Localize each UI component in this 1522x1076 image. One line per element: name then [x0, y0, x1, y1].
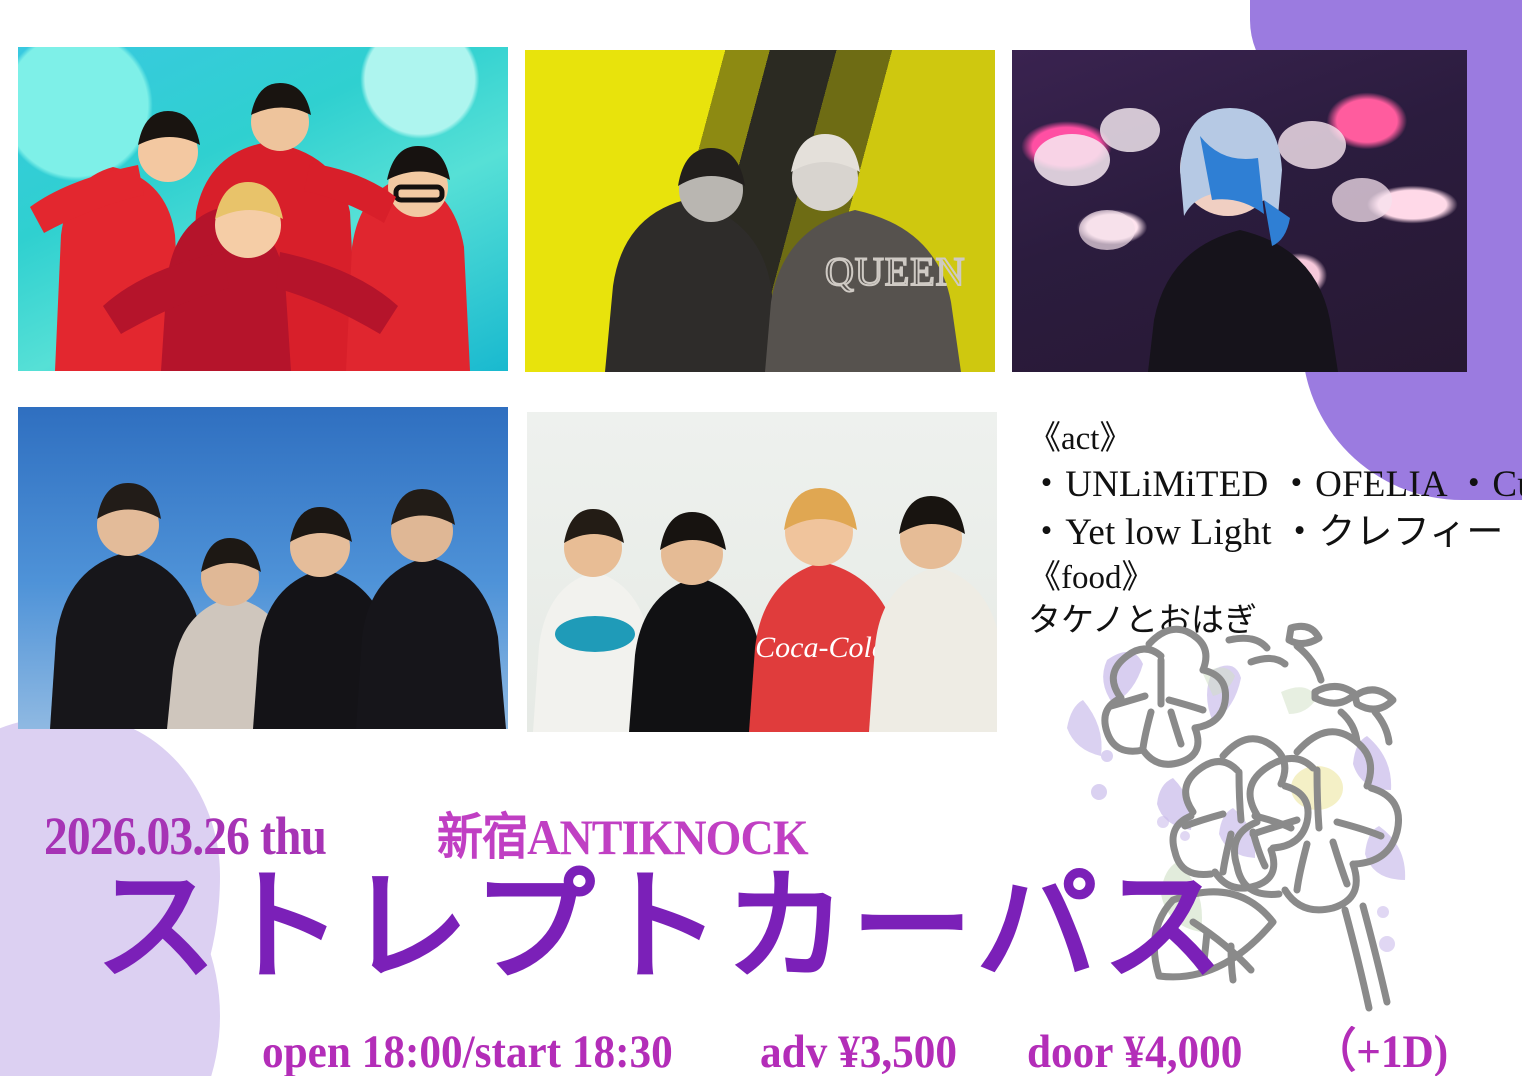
- svg-text:QUEEN: QUEEN: [825, 249, 966, 294]
- drink-note: （+1D): [1313, 1012, 1448, 1076]
- act-line-2: ・Yet low Light ・クレフィー: [1028, 509, 1508, 557]
- photo-band-4: [18, 407, 508, 729]
- photo-band-5: Coca-Cola: [527, 412, 997, 732]
- event-title: ストレプトカーパス: [95, 866, 1228, 988]
- photo-band-3-figure: [1012, 50, 1467, 372]
- photo-band-1-figures: [18, 47, 508, 371]
- act-line-1: ・UNLiMiTED ・OFELIA ・Cuon: [1028, 461, 1508, 509]
- photo-band-4-figures: [18, 407, 508, 729]
- door-price: door ¥4,000: [1027, 1025, 1242, 1076]
- photo-band-5-figures: Coca-Cola: [527, 412, 997, 732]
- photo-band-2-figures: QUEEN: [525, 50, 995, 372]
- ticket-info-line: open 18:00/start 18:30 adv ¥3,500 door ¥…: [262, 1012, 1460, 1076]
- adv-price: adv ¥3,500: [760, 1025, 957, 1076]
- event-times: open 18:00/start 18:30: [262, 1025, 673, 1076]
- lineup-list: 《act》 ・UNLiMiTED ・OFELIA ・Cuon ・Yet low …: [1028, 418, 1508, 643]
- photo-band-3: [1012, 50, 1467, 372]
- food-vendor: タケノとおはぎ: [1028, 600, 1508, 643]
- svg-text:Coca-Cola: Coca-Cola: [755, 631, 887, 664]
- photo-band-1: [18, 47, 508, 371]
- food-header: 《food》: [1028, 557, 1508, 600]
- concert-flyer: QUEEN: [0, 0, 1522, 1076]
- photo-band-2: QUEEN: [525, 50, 995, 372]
- act-header: 《act》: [1028, 418, 1508, 461]
